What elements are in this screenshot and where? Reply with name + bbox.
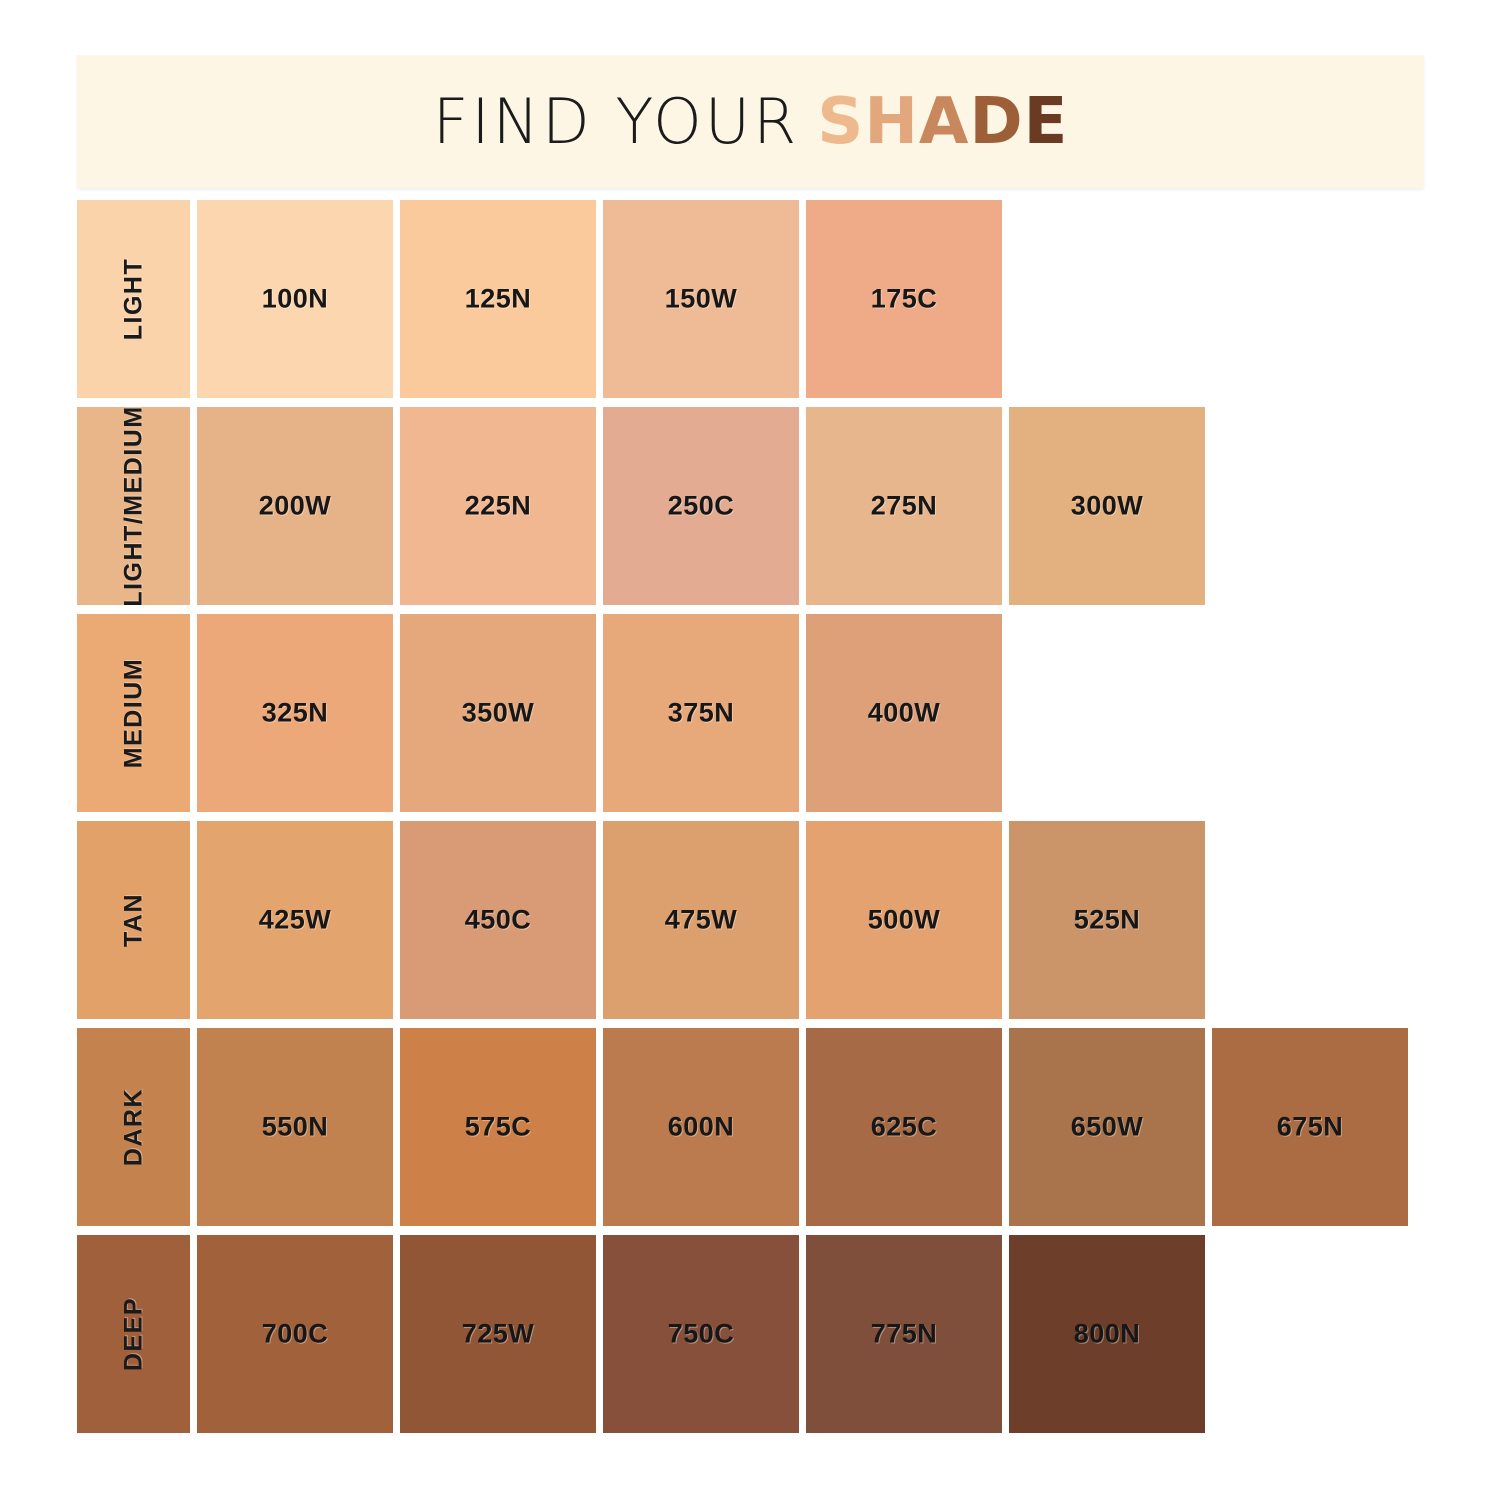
shade-swatch-label: 475W bbox=[603, 905, 799, 936]
shade-swatch-label: 300W bbox=[1009, 491, 1205, 522]
title-accent-letter-d-3: D bbox=[969, 90, 1023, 154]
shade-swatch-label: 400W bbox=[806, 698, 1002, 729]
shade-swatch-275n[interactable]: 275N bbox=[806, 407, 1002, 605]
title-accent-letter-e-4: E bbox=[1024, 90, 1069, 154]
shade-swatch-label: 775N bbox=[806, 1319, 1002, 1350]
shade-swatch-label: 725W bbox=[400, 1319, 596, 1350]
shade-swatch-500w[interactable]: 500W bbox=[806, 821, 1002, 1019]
shade-swatch-label: 250C bbox=[603, 491, 799, 522]
shade-swatch-label: 550N bbox=[197, 1112, 393, 1143]
title-accent-text: SHADE bbox=[817, 90, 1068, 154]
shade-row: DEEP700C725W750C775N800N bbox=[77, 1235, 1408, 1433]
shade-swatch-650w[interactable]: 650W bbox=[1009, 1028, 1205, 1226]
shade-swatch-150w[interactable]: 150W bbox=[603, 200, 799, 398]
shade-swatch-100n[interactable]: 100N bbox=[197, 200, 393, 398]
title-plain-text: FIND YOUR bbox=[433, 91, 800, 153]
shade-grid: LIGHT100N125N150W175CLIGHT/MEDIUM200W225… bbox=[77, 200, 1408, 1442]
row-label-text: DEEP bbox=[119, 1297, 148, 1371]
row-label-text: TAN bbox=[119, 893, 148, 947]
shade-swatch-400w[interactable]: 400W bbox=[806, 614, 1002, 812]
shade-swatch-175c[interactable]: 175C bbox=[806, 200, 1002, 398]
row-label-text: LIGHT/MEDIUM bbox=[119, 407, 148, 605]
shade-swatch-775n[interactable]: 775N bbox=[806, 1235, 1002, 1433]
shade-swatch-label: 675N bbox=[1212, 1112, 1408, 1143]
shade-swatch-label: 450C bbox=[400, 905, 596, 936]
shade-swatch-375n[interactable]: 375N bbox=[603, 614, 799, 812]
shade-swatch-225n[interactable]: 225N bbox=[400, 407, 596, 605]
shade-swatch-label: 525N bbox=[1009, 905, 1205, 936]
shade-swatch-800n[interactable]: 800N bbox=[1009, 1235, 1205, 1433]
row-label-text: MEDIUM bbox=[119, 658, 148, 768]
row-label-light: LIGHT bbox=[77, 200, 190, 398]
title-accent-letter-h-1: H bbox=[864, 90, 919, 154]
shade-swatch-750c[interactable]: 750C bbox=[603, 1235, 799, 1433]
row-label-light-medium: LIGHT/MEDIUM bbox=[77, 407, 190, 605]
shade-swatch-550n[interactable]: 550N bbox=[197, 1028, 393, 1226]
shade-swatch-label: 500W bbox=[806, 905, 1002, 936]
shade-swatch-label: 575C bbox=[400, 1112, 596, 1143]
shade-swatch-600n[interactable]: 600N bbox=[603, 1028, 799, 1226]
shade-swatch-625c[interactable]: 625C bbox=[806, 1028, 1002, 1226]
shade-swatch-label: 325N bbox=[197, 698, 393, 729]
shade-row: DARK550N575C600N625C650W675N bbox=[77, 1028, 1408, 1226]
shade-swatch-450c[interactable]: 450C bbox=[400, 821, 596, 1019]
shade-swatch-350w[interactable]: 350W bbox=[400, 614, 596, 812]
shade-swatch-label: 200W bbox=[197, 491, 393, 522]
shade-swatch-label: 425W bbox=[197, 905, 393, 936]
shade-swatch-475w[interactable]: 475W bbox=[603, 821, 799, 1019]
shade-swatch-label: 150W bbox=[603, 284, 799, 315]
shade-swatch-label: 225N bbox=[400, 491, 596, 522]
shade-swatch-675n[interactable]: 675N bbox=[1212, 1028, 1408, 1226]
shade-swatch-label: 350W bbox=[400, 698, 596, 729]
row-label-medium: MEDIUM bbox=[77, 614, 190, 812]
shade-swatch-label: 625C bbox=[806, 1112, 1002, 1143]
shade-swatch-525n[interactable]: 525N bbox=[1009, 821, 1205, 1019]
shade-swatch-label: 100N bbox=[197, 284, 393, 315]
title-accent-letter-a-2: A bbox=[919, 90, 970, 154]
shade-swatch-700c[interactable]: 700C bbox=[197, 1235, 393, 1433]
shade-swatch-325n[interactable]: 325N bbox=[197, 614, 393, 812]
shade-swatch-label: 650W bbox=[1009, 1112, 1205, 1143]
row-label-text: DARK bbox=[119, 1088, 148, 1166]
row-label-text: LIGHT bbox=[119, 258, 148, 341]
shade-swatch-label: 125N bbox=[400, 284, 596, 315]
shade-swatch-300w[interactable]: 300W bbox=[1009, 407, 1205, 605]
shade-row: LIGHT/MEDIUM200W225N250C275N300W bbox=[77, 407, 1408, 605]
shade-row: LIGHT100N125N150W175C bbox=[77, 200, 1408, 398]
row-label-deep: DEEP bbox=[77, 1235, 190, 1433]
shade-swatch-200w[interactable]: 200W bbox=[197, 407, 393, 605]
shade-swatch-250c[interactable]: 250C bbox=[603, 407, 799, 605]
shade-swatch-725w[interactable]: 725W bbox=[400, 1235, 596, 1433]
shade-swatch-label: 800N bbox=[1009, 1319, 1205, 1350]
shade-swatch-label: 600N bbox=[603, 1112, 799, 1143]
shade-swatch-label: 700C bbox=[197, 1319, 393, 1350]
shade-swatch-label: 175C bbox=[806, 284, 1002, 315]
shade-row: TAN425W450C475W500W525N bbox=[77, 821, 1408, 1019]
shade-chart-page: FIND YOUR SHADE LIGHT100N125N150W175CLIG… bbox=[0, 0, 1500, 1500]
shade-swatch-125n[interactable]: 125N bbox=[400, 200, 596, 398]
shade-swatch-425w[interactable]: 425W bbox=[197, 821, 393, 1019]
shade-swatch-label: 375N bbox=[603, 698, 799, 729]
title-accent-letter-s-0: S bbox=[817, 90, 864, 154]
row-label-dark: DARK bbox=[77, 1028, 190, 1226]
header-banner: FIND YOUR SHADE bbox=[77, 55, 1424, 188]
row-label-tan: TAN bbox=[77, 821, 190, 1019]
shade-row: MEDIUM325N350W375N400W bbox=[77, 614, 1408, 812]
page-title: FIND YOUR SHADE bbox=[433, 90, 1069, 154]
shade-swatch-label: 275N bbox=[806, 491, 1002, 522]
shade-swatch-575c[interactable]: 575C bbox=[400, 1028, 596, 1226]
shade-swatch-label: 750C bbox=[603, 1319, 799, 1350]
